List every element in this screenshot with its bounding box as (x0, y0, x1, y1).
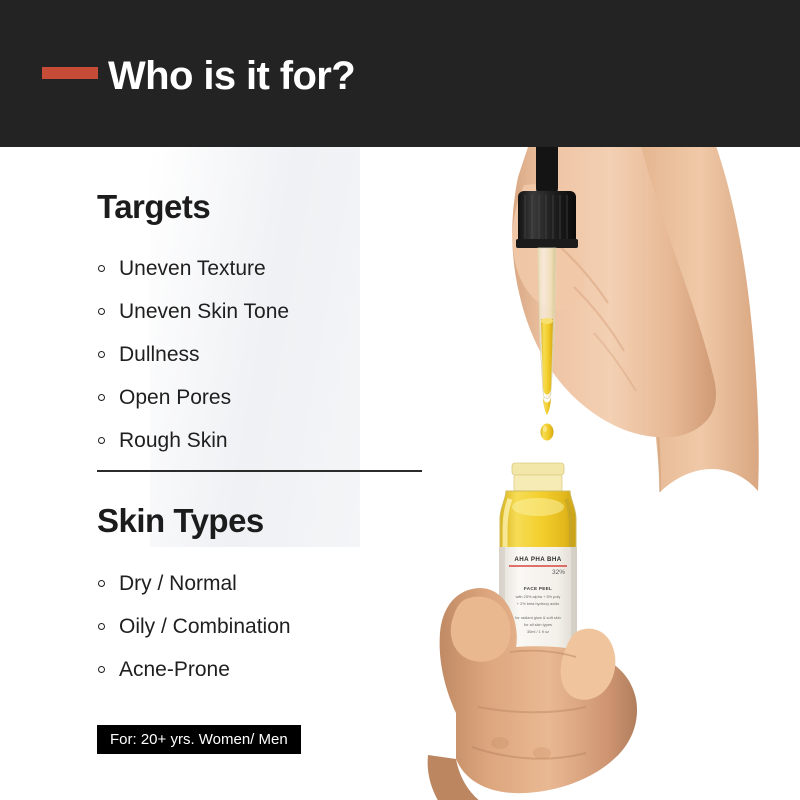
list-item-label: Oily / Combination (119, 615, 291, 638)
svg-text:for all skin types: for all skin types (524, 622, 552, 627)
bullet-ring-icon (98, 666, 105, 673)
bullet-ring-icon (98, 308, 105, 315)
section-divider (97, 470, 422, 472)
bullet-ring-icon (98, 437, 105, 444)
list-item-label: Rough Skin (119, 429, 228, 452)
header-accent-bar (42, 67, 98, 79)
header-band: Who is it for? (0, 0, 800, 147)
svg-text:30ml / 1 fl oz: 30ml / 1 fl oz (527, 629, 549, 634)
list-item: Open Pores (97, 376, 289, 419)
infographic-page: AHA PHA BHA 32% FACE PEEL with 25% alpha… (0, 0, 800, 800)
list-item: Dullness (97, 333, 289, 376)
page-title: Who is it for? (108, 55, 355, 97)
svg-text:AHA PHA BHA: AHA PHA BHA (514, 556, 561, 563)
list-item: Oily / Combination (97, 605, 291, 648)
skin-types-heading: Skin Types (97, 502, 264, 540)
bullet-ring-icon (98, 394, 105, 401)
targets-list: Uneven Texture Uneven Skin Tone Dullness… (97, 247, 289, 462)
list-item-label: Uneven Texture (119, 257, 266, 280)
svg-text:with 25% alpha + 5% poly: with 25% alpha + 5% poly (516, 594, 561, 599)
list-item-label: Uneven Skin Tone (119, 300, 289, 323)
list-item-label: Open Pores (119, 386, 231, 409)
bullet-ring-icon (98, 623, 105, 630)
targets-heading: Targets (97, 188, 210, 226)
audience-badge: For: 20+ yrs. Women/ Men (97, 725, 301, 754)
svg-text:32%: 32% (552, 569, 565, 576)
list-item-label: Dullness (119, 343, 200, 366)
list-item: Dry / Normal (97, 562, 291, 605)
bullet-ring-icon (98, 580, 105, 587)
skin-types-list: Dry / Normal Oily / Combination Acne-Pro… (97, 562, 291, 691)
bullet-ring-icon (98, 265, 105, 272)
list-item: Rough Skin (97, 419, 289, 462)
list-item: Uneven Texture (97, 247, 289, 290)
bullet-ring-icon (98, 351, 105, 358)
list-item-label: Dry / Normal (119, 572, 237, 595)
svg-text:FACE PEEL: FACE PEEL (524, 586, 552, 591)
svg-text:for radiant glow & soft skin: for radiant glow & soft skin (515, 615, 561, 620)
list-item: Uneven Skin Tone (97, 290, 289, 333)
svg-text:+ 2% beta hydroxy acids: + 2% beta hydroxy acids (517, 601, 560, 606)
list-item: Acne-Prone (97, 648, 291, 691)
list-item-label: Acne-Prone (119, 658, 230, 681)
content-column: Targets Uneven Texture Uneven Skin Tone … (0, 147, 440, 800)
